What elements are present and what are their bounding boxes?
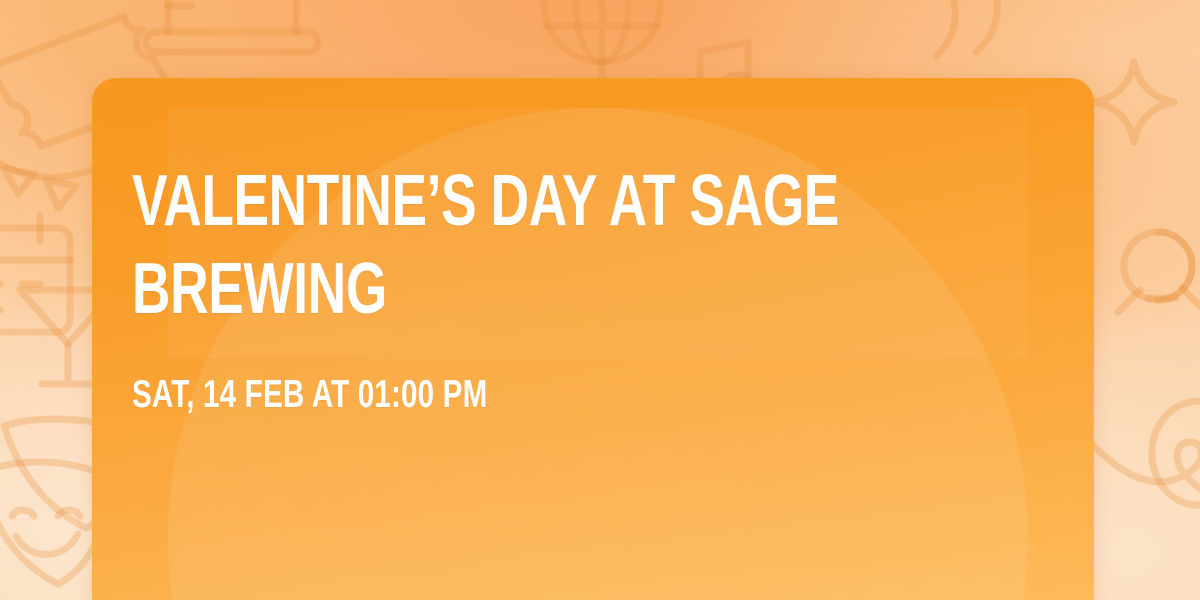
event-datetime: Sat, 14 Feb at 01:00 PM bbox=[132, 374, 1078, 417]
card-content: Valentine’s Day at Sage Brewing Sat, 14 … bbox=[132, 158, 1054, 417]
cake-platter-icon bbox=[146, 0, 318, 52]
calendar-icon bbox=[0, 216, 70, 332]
event-banner: Valentine’s Day at Sage Brewing Sat, 14 … bbox=[0, 0, 1200, 600]
confetti-icon bbox=[934, 0, 997, 56]
sparkle-icon bbox=[1094, 62, 1174, 142]
microphone-icon bbox=[1118, 232, 1200, 314]
globe-icon bbox=[544, 0, 660, 80]
event-title: Valentine’s Day at Sage Brewing bbox=[132, 158, 1053, 334]
balloon-icon bbox=[1086, 401, 1200, 514]
event-card[interactable]: Valentine’s Day at Sage Brewing Sat, 14 … bbox=[92, 78, 1094, 600]
